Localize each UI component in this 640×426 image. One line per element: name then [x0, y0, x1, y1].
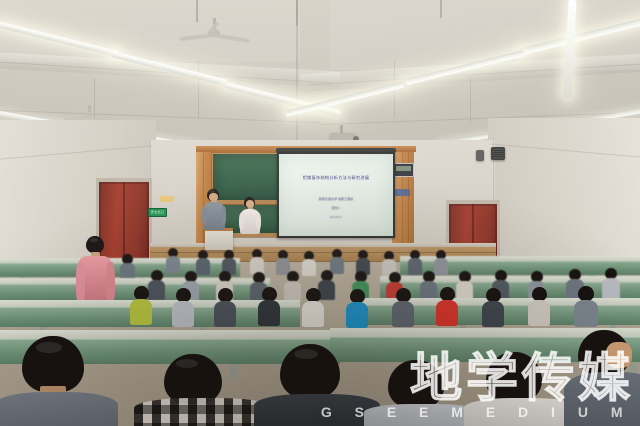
audience-member-foreground	[470, 352, 570, 426]
audience-member	[250, 249, 264, 273]
audience-member	[120, 254, 135, 280]
wall-plate[interactable]	[395, 189, 410, 196]
projection-screen: 铝镁复杂结构分析方法与研究进展 西南交通大学 地质工程系 报告人 2013-05…	[279, 154, 393, 236]
audience-member	[130, 286, 152, 322]
audience-member	[214, 288, 236, 324]
audience-member	[528, 287, 550, 323]
audience-member	[574, 286, 598, 324]
slide-title: 铝镁复杂结构分析方法与研究进展	[286, 175, 386, 180]
audience-member-foreground	[262, 344, 370, 426]
presenter-standing	[203, 189, 225, 233]
audience-member	[456, 271, 473, 299]
exit-sign-label: 安全出口	[149, 209, 166, 215]
audience-member	[302, 251, 316, 275]
av-control-panel[interactable]	[393, 163, 414, 177]
lecture-hall-photograph: 安全出口 铝镁复杂结构分析方法与研究进展 西南交通大学 地质工程系 报告人 20…	[0, 0, 640, 426]
audience-member	[302, 288, 324, 324]
audience-member	[392, 288, 414, 324]
audience-member	[258, 287, 280, 323]
audience-member-foreground	[572, 330, 640, 426]
wall-speaker	[476, 150, 484, 161]
slide-subtitle: 西南交通大学 地质工程系	[290, 197, 381, 201]
audience-member	[346, 289, 368, 325]
audience-member	[436, 287, 458, 323]
wall-speaker	[491, 147, 505, 160]
audience-member-foreground	[370, 360, 474, 426]
audience-member	[420, 271, 437, 299]
slide-presenter: 报告人	[290, 206, 381, 210]
stage-edge	[150, 243, 496, 247]
ceiling-fan	[178, 18, 250, 42]
presenter-seated	[240, 197, 260, 235]
audience-member	[172, 288, 194, 324]
exit-sign: 安全出口	[148, 208, 167, 217]
audience-member-foreground	[0, 336, 110, 426]
audience-member-foreground	[142, 354, 262, 426]
slide-date: 2013-05-17	[290, 216, 381, 219]
audience-member	[482, 288, 504, 324]
wall-placard	[160, 196, 174, 202]
audience-member	[166, 248, 180, 272]
audience-member	[284, 271, 301, 299]
audience-member	[602, 268, 620, 298]
